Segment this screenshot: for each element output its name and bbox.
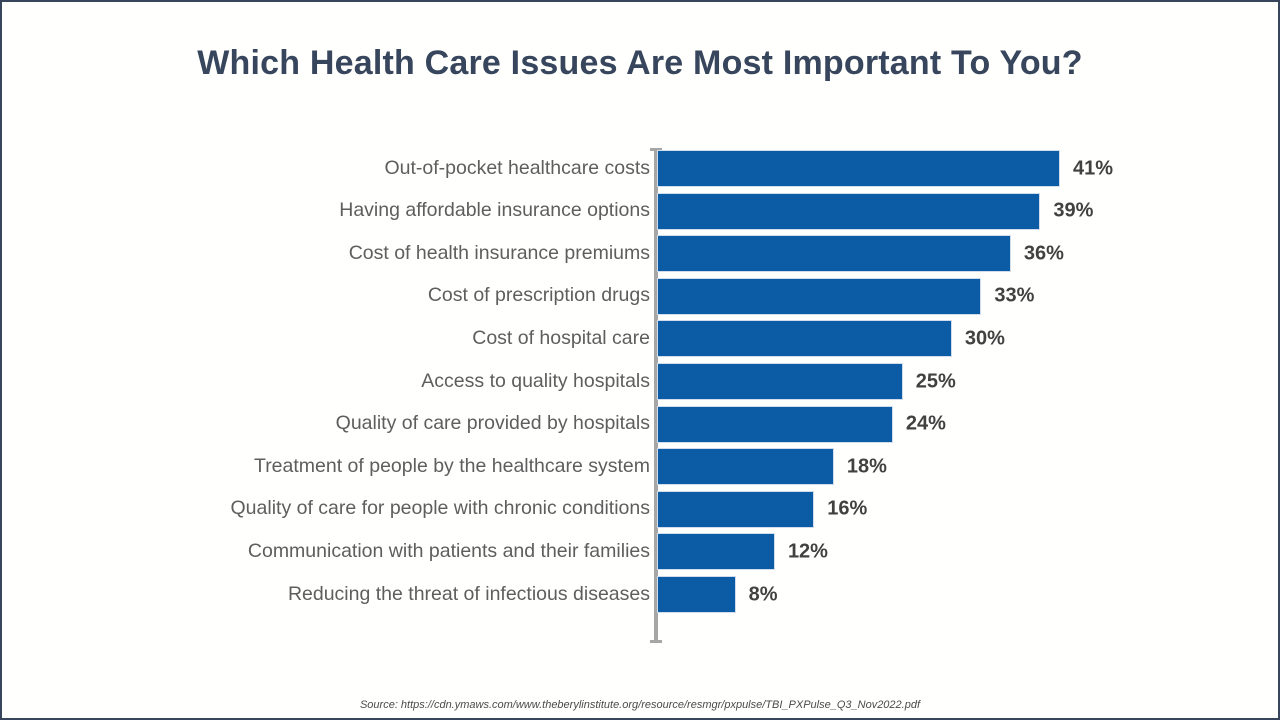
- bar[interactable]: [657, 235, 1011, 272]
- bar-row[interactable]: 30%: [657, 320, 1257, 357]
- bar-row[interactable]: 24%: [657, 406, 1257, 443]
- bar-value-label: 18%: [847, 455, 887, 478]
- bar-row[interactable]: 41%: [657, 150, 1257, 187]
- bar[interactable]: [657, 150, 1060, 187]
- bar-value-label: 16%: [827, 498, 867, 521]
- bar-value-label: 36%: [1024, 242, 1064, 265]
- bar[interactable]: [657, 448, 834, 485]
- bar-value-label: 24%: [906, 413, 946, 436]
- bars-container: 41%39%36%33%30%25%24%18%16%12%8%: [657, 150, 1257, 642]
- bar-row[interactable]: 33%: [657, 278, 1257, 315]
- bar[interactable]: [657, 363, 903, 400]
- category-label: Cost of health insurance premiums: [349, 244, 650, 264]
- bar-row[interactable]: 39%: [657, 193, 1257, 230]
- category-label: Quality of care provided by hospitals: [336, 414, 650, 434]
- bar-value-label: 8%: [749, 583, 778, 606]
- bar[interactable]: [657, 278, 981, 315]
- bar-row[interactable]: 16%: [657, 491, 1257, 528]
- category-label: Communication with patients and their fa…: [248, 542, 650, 562]
- bar[interactable]: [657, 533, 775, 570]
- bar-value-label: 41%: [1073, 157, 1113, 180]
- bar-value-label: 39%: [1053, 200, 1093, 223]
- bar-value-label: 30%: [965, 327, 1005, 350]
- bar-value-label: 12%: [788, 540, 828, 563]
- category-label: Out-of-pocket healthcare costs: [384, 159, 650, 179]
- category-label: Access to quality hospitals: [421, 372, 650, 392]
- bar[interactable]: [657, 193, 1040, 230]
- bar-value-label: 25%: [916, 370, 956, 393]
- bar[interactable]: [657, 406, 893, 443]
- bar-row[interactable]: 36%: [657, 235, 1257, 272]
- category-label: Cost of prescription drugs: [428, 286, 650, 306]
- bar-row[interactable]: 12%: [657, 533, 1257, 570]
- category-label: Cost of hospital care: [472, 329, 650, 349]
- bar-row[interactable]: 25%: [657, 363, 1257, 400]
- category-label: Reducing the threat of infectious diseas…: [288, 585, 650, 605]
- bar[interactable]: [657, 491, 814, 528]
- category-label: Treatment of people by the healthcare sy…: [254, 457, 650, 477]
- slide-canvas: Which Health Care Issues Are Most Import…: [0, 0, 1280, 720]
- bar-row[interactable]: 8%: [657, 576, 1257, 613]
- bar[interactable]: [657, 320, 952, 357]
- category-axis-labels: Out-of-pocket healthcare costsHaving aff…: [150, 150, 650, 642]
- bar[interactable]: [657, 576, 736, 613]
- category-label: Quality of care for people with chronic …: [231, 499, 650, 519]
- category-label: Having affordable insurance options: [339, 201, 650, 221]
- bar-chart: Out-of-pocket healthcare costsHaving aff…: [2, 2, 1280, 722]
- source-citation: Source: https://cdn.ymaws.com/www.theber…: [2, 699, 1278, 711]
- bar-row[interactable]: 18%: [657, 448, 1257, 485]
- bar-value-label: 33%: [994, 285, 1034, 308]
